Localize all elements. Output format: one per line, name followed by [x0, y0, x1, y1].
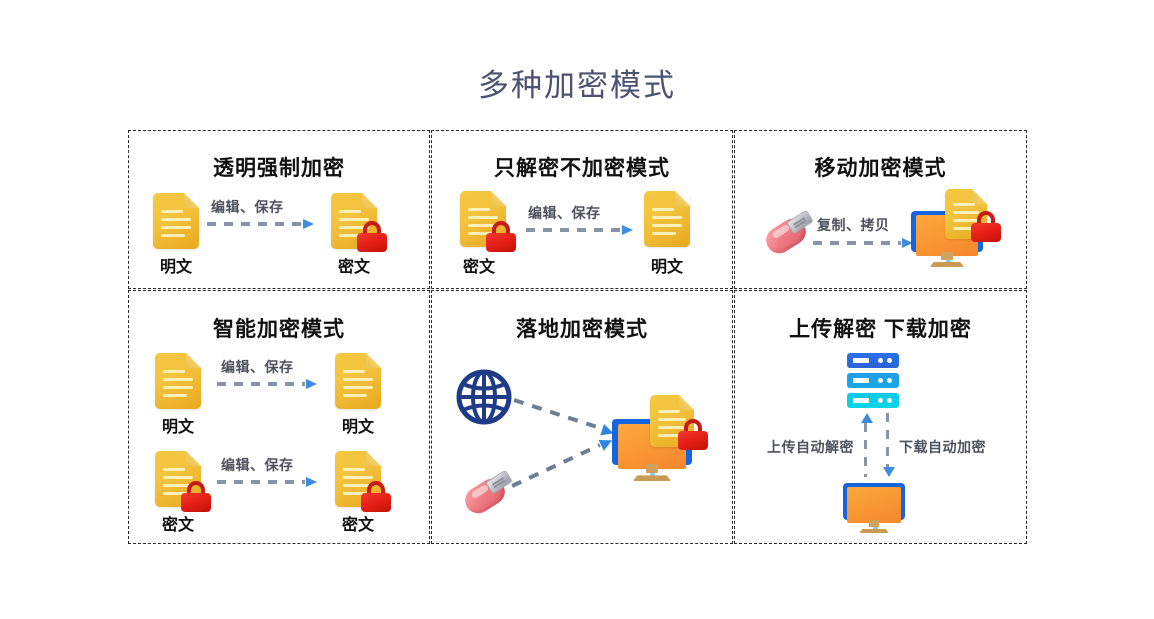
flow-label: 复制、拷贝	[817, 215, 890, 235]
item-label-ciphertext: 密文	[323, 511, 393, 535]
document-icon	[153, 193, 199, 249]
download-arrow-icon	[883, 413, 893, 477]
document-locked-icon	[460, 191, 506, 247]
panel-landing-encryption-mode: 落地加密模式	[431, 290, 733, 544]
monitor-document-locked-icon	[612, 395, 720, 481]
item-label-plaintext: 明文	[323, 413, 393, 437]
document-locked-icon	[331, 193, 377, 249]
item-label-ciphertext: 密文	[319, 253, 389, 277]
lock-icon	[486, 221, 516, 252]
flow-label: 编辑、保存	[221, 455, 294, 475]
panel-smart-encryption-mode: 智能加密模式 明文 编辑、保存 明文	[128, 290, 430, 544]
monitor-document-locked-icon	[911, 189, 1011, 267]
document-locked-icon	[335, 451, 381, 507]
flow-arrow-icon	[526, 225, 633, 235]
monitor-icon	[843, 483, 905, 533]
panel-title: 落地加密模式	[432, 313, 732, 343]
item-label-plaintext: 明文	[632, 253, 702, 277]
flow-arrow-icon	[217, 379, 317, 389]
flow-arrow-icon	[510, 435, 614, 491]
flow-arrow-icon	[512, 395, 615, 437]
document-locked-icon	[155, 451, 201, 507]
panel-title: 智能加密模式	[129, 313, 429, 343]
item-label-plaintext: 明文	[141, 253, 211, 277]
lock-icon	[361, 481, 391, 512]
panel-upload-decrypt-download-encrypt: 上传解密 下载加密 上传自动解密 下载自动加密	[734, 290, 1027, 544]
lock-icon	[357, 221, 387, 252]
flow-label: 编辑、保存	[528, 203, 601, 223]
flow-label: 编辑、保存	[211, 197, 284, 217]
upload-arrow-icon	[861, 413, 871, 477]
document-icon	[644, 191, 690, 247]
item-label-ciphertext: 密文	[444, 253, 514, 277]
server-icon	[847, 353, 899, 407]
panel-title: 只解密不加密模式	[432, 152, 732, 182]
flow-label: 编辑、保存	[221, 357, 294, 377]
flow-label-upload: 上传自动解密	[767, 437, 854, 457]
panel-mobile-encryption-mode: 移动加密模式 复制、拷贝	[734, 130, 1027, 289]
item-label-plaintext: 明文	[143, 413, 213, 437]
lock-icon	[971, 211, 1001, 242]
flow-label-download: 下载自动加密	[899, 437, 986, 457]
panel-title: 上传解密 下载加密	[735, 313, 1026, 343]
panel-title: 透明强制加密	[129, 152, 429, 182]
lock-icon	[181, 481, 211, 512]
lock-icon	[678, 419, 708, 450]
flow-arrow-icon	[813, 238, 913, 248]
panel-transparent-forced-encryption: 透明强制加密 明文 编辑、保存 密文	[128, 130, 430, 289]
document-icon	[155, 353, 201, 409]
flow-arrow-icon	[207, 219, 314, 229]
usb-drive-icon	[454, 477, 512, 517]
panel-title: 移动加密模式	[735, 152, 1026, 182]
item-label-ciphertext: 密文	[143, 511, 213, 535]
panel-decrypt-only-mode: 只解密不加密模式 密文 编辑、保存 明文	[431, 130, 733, 289]
encryption-modes-infographic: 多种加密模式 透明强制加密 明文 编辑、保存 密文	[0, 0, 1154, 619]
panel-grid: 透明强制加密 明文 编辑、保存 密文 只解密不加密模式	[128, 130, 1028, 545]
page-title: 多种加密模式	[0, 60, 1154, 105]
usb-drive-icon	[755, 217, 813, 257]
document-icon	[335, 353, 381, 409]
globe-icon	[456, 369, 512, 425]
flow-arrow-icon	[217, 477, 317, 487]
